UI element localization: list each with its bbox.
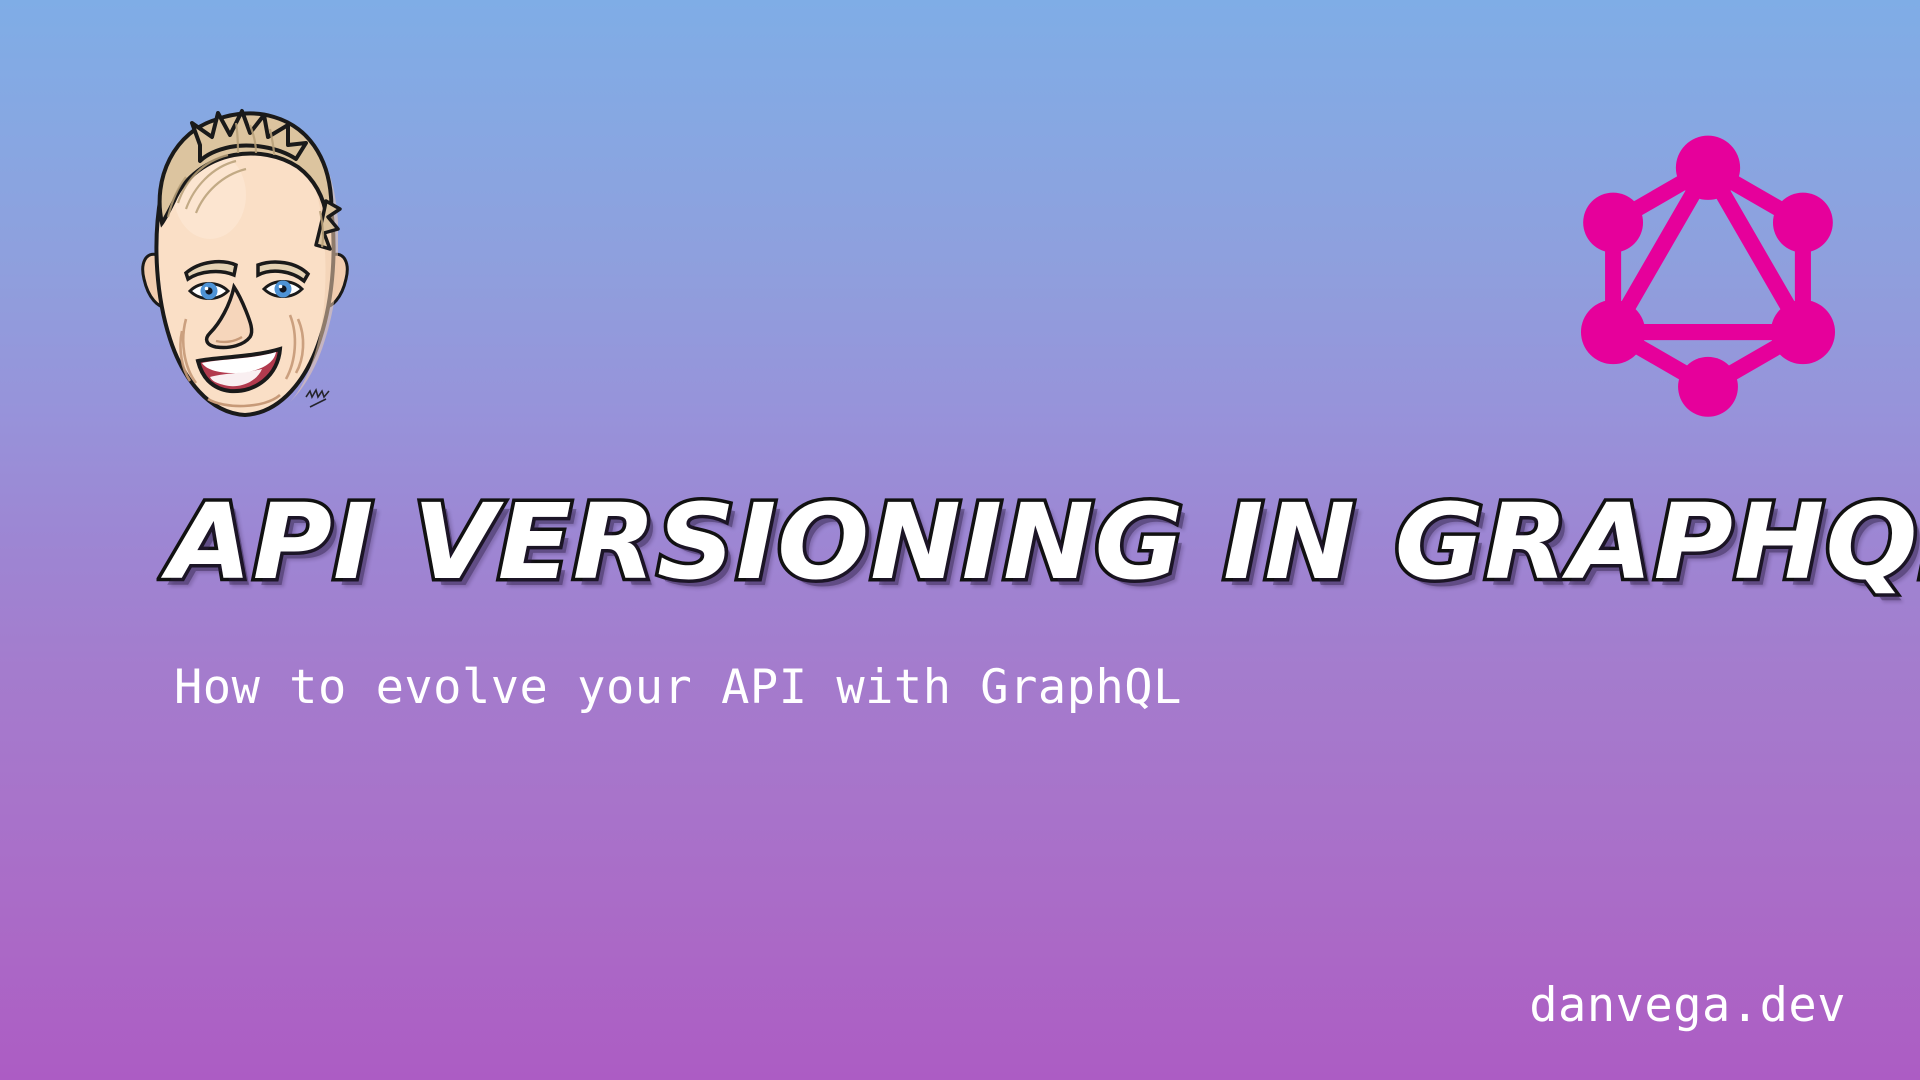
avatar-right-eye bbox=[264, 281, 302, 298]
banner-subtitle: How to evolve your API with GraphQL bbox=[174, 660, 1182, 715]
graphql-logo bbox=[1562, 122, 1854, 418]
banner-canvas: API VERSIONING IN GRAPHQL How to evolve … bbox=[0, 0, 1920, 1080]
avatar-signature bbox=[306, 390, 329, 407]
banner-title: API VERSIONING IN GRAPHQL bbox=[168, 486, 1920, 598]
avatar bbox=[138, 105, 353, 430]
site-watermark: danvega.dev bbox=[1529, 978, 1846, 1033]
avatar-left-eye bbox=[190, 283, 228, 300]
graphql-logo-edges bbox=[1613, 168, 1803, 387]
